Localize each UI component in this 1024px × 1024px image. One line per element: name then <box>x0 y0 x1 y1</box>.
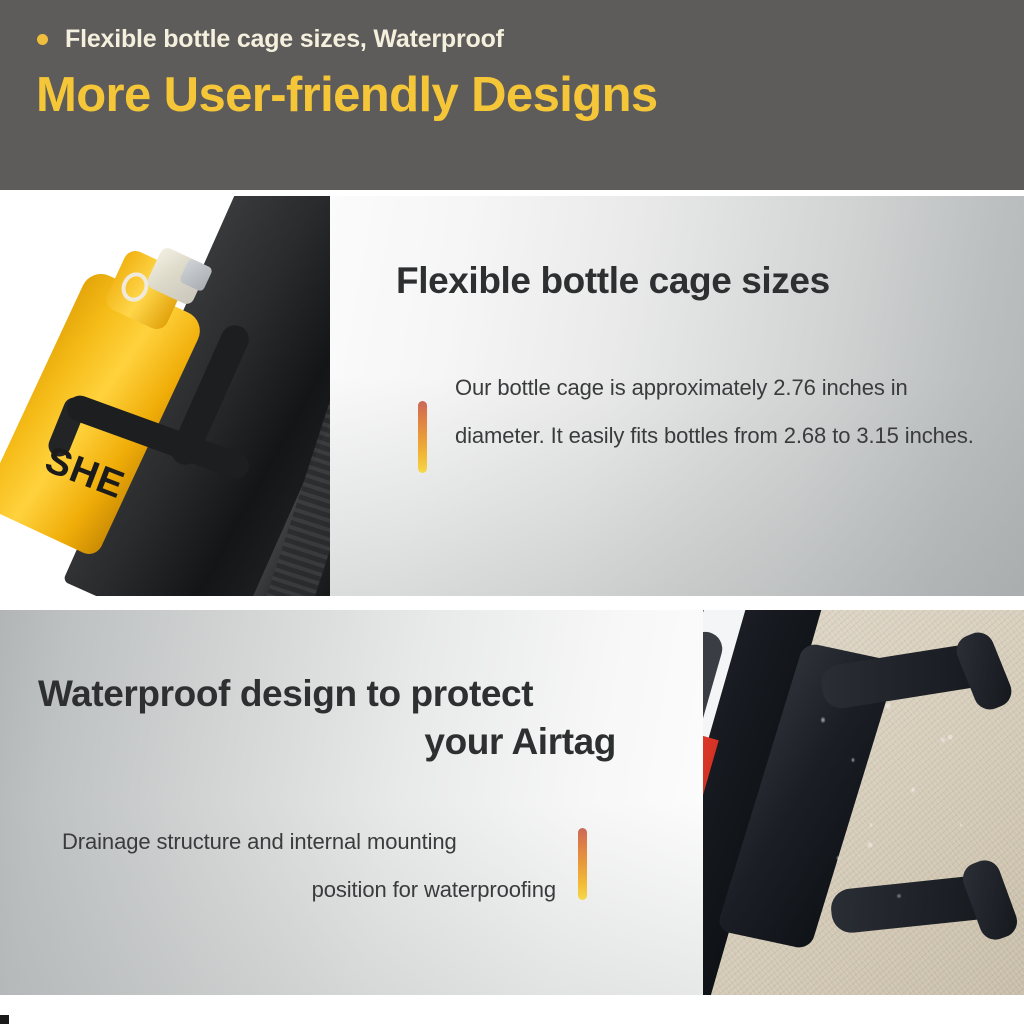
page-header: Flexible bottle cage sizes, Waterproof M… <box>0 0 1024 190</box>
bullet-dot-icon <box>37 34 48 45</box>
header-eyebrow-text: Flexible bottle cage sizes, Waterproof <box>65 26 504 54</box>
feature-panel-waterproof-design: Waterproof design to protect your Airtag… <box>0 610 1024 995</box>
accent-bar-icon <box>578 828 587 900</box>
feature-panel-flexible-bottle-cage-sizes: SHE Flexible bottle cage sizes Our bottl… <box>0 196 1024 596</box>
feature-two-title-line-one: Waterproof design to protect <box>38 670 616 718</box>
feature-copy-block-two: Waterproof design to protect your Airtag… <box>0 610 703 995</box>
corner-artifact-mark <box>0 1015 9 1024</box>
feature-one-title: Flexible bottle cage sizes <box>396 260 830 302</box>
product-feature-page: Flexible bottle cage sizes, Waterproof M… <box>0 0 1024 1024</box>
feature-image-bottle-in-cage: SHE <box>0 196 330 596</box>
feature-two-body: Drainage structure and internal mounting… <box>36 818 556 913</box>
feature-two-body-line-two: position for waterproofing <box>36 866 556 914</box>
feature-two-title: Waterproof design to protect your Airtag <box>38 670 616 766</box>
page-title: More User-friendly Designs <box>36 68 1024 123</box>
feature-one-body: Our bottle cage is approximately 2.76 in… <box>455 364 1000 459</box>
accent-bar-icon <box>418 401 427 473</box>
header-eyebrow: Flexible bottle cage sizes, Waterproof <box>34 26 1024 54</box>
feature-image-wet-bottle-cage <box>703 610 1024 995</box>
feature-two-title-line-two: your Airtag <box>38 718 616 766</box>
feature-copy-block-one: Flexible bottle cage sizes Our bottle ca… <box>330 196 1024 596</box>
feature-two-body-line-one: Drainage structure and internal mounting <box>36 818 556 866</box>
